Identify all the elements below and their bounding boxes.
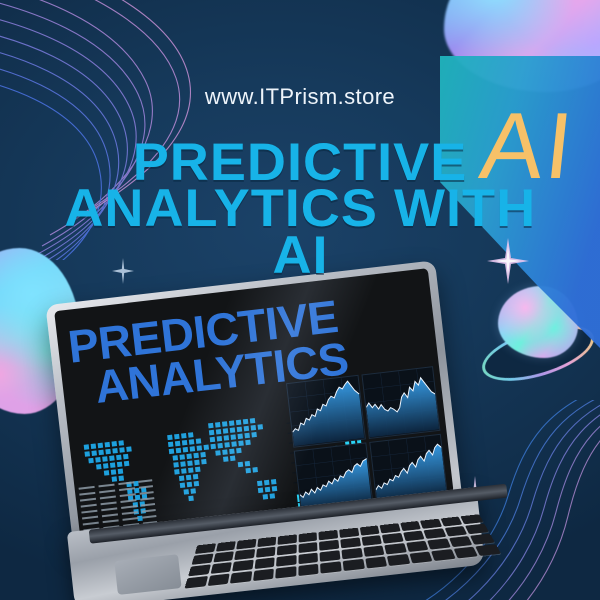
- chart-panel-2: [361, 366, 440, 438]
- page-title: PREDICTIVE ANALYTICS WITH AI: [0, 138, 600, 281]
- poster-canvas: AI www.ITPrism.store PREDICTIVE ANALYTIC…: [0, 0, 600, 600]
- laptop-trackpad: [114, 554, 181, 595]
- site-url-text: www.ITPrism.store: [0, 84, 600, 110]
- chart-panel-1: [286, 375, 365, 447]
- laptop-illustration: PREDICTIVE ANALYTICS: [44, 276, 504, 600]
